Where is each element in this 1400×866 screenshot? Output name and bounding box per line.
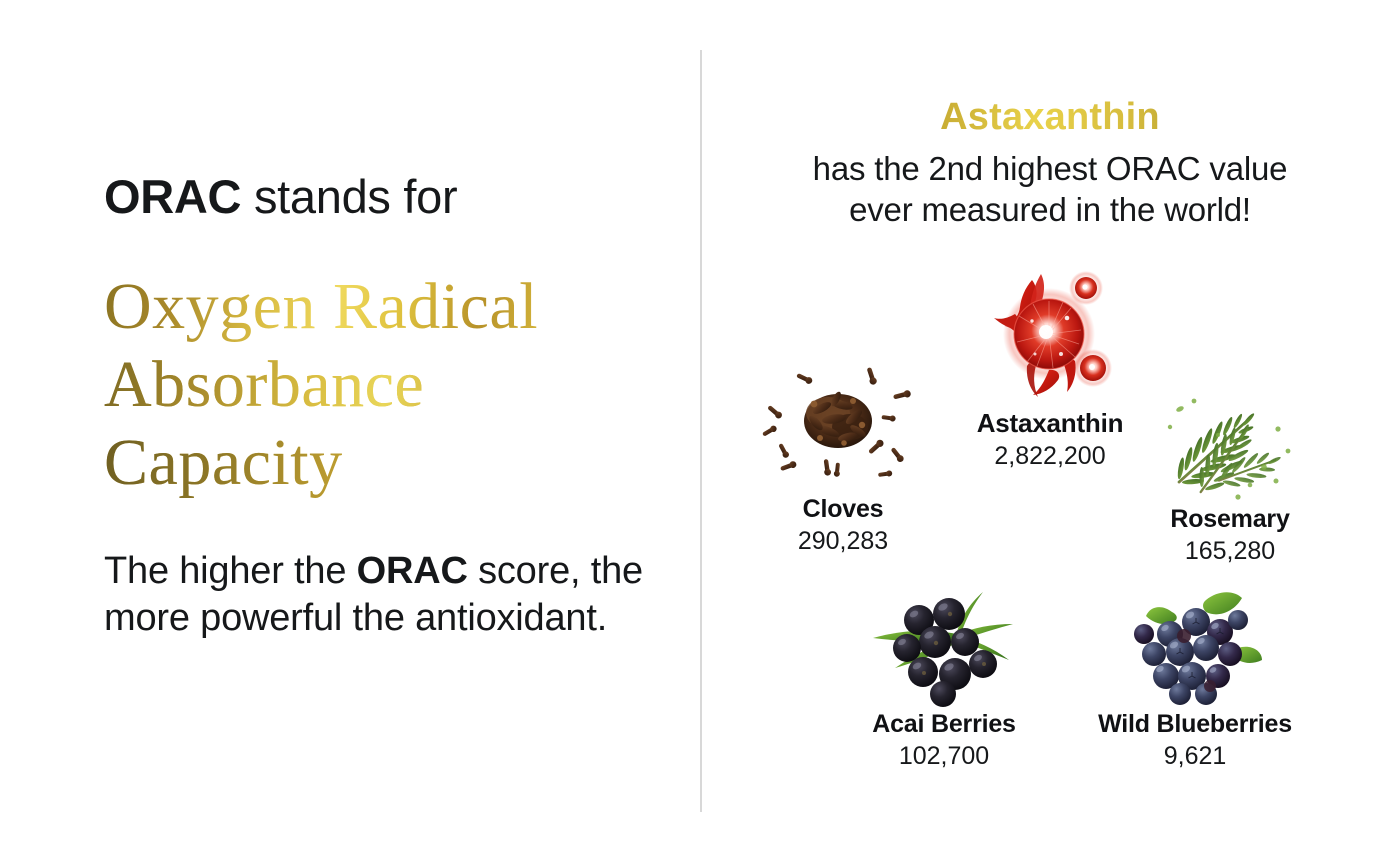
item-astaxanthin-value: 2,822,200 [950,442,1150,471]
orac-stands-for-heading: ORAC stands for [104,172,457,221]
item-acai-berries-value: 102,700 [830,742,1058,771]
orac-explanation-paragraph: The higher the ORAC score, the more powe… [104,548,679,642]
acai-berries-icon [857,590,1032,710]
item-wild-blueberries: Wild Blueberries 9,621 [1060,590,1330,771]
item-cloves-label: Cloves [743,495,943,524]
acronym-line-1: Oxygen Radical [104,268,644,346]
left-panel: ORAC stands for Oxygen Radical Absorbanc… [0,0,700,866]
orac-acronym-bold: ORAC [104,170,241,223]
rosemary-sprig-icon [1160,385,1300,505]
astaxanthin-title: Astaxanthin [700,96,1400,139]
wild-blueberries-icon [1110,590,1280,710]
item-wild-blueberries-value: 9,621 [1060,742,1330,771]
acronym-line-2: Absorbance [104,346,644,424]
item-wild-blueberries-label: Wild Blueberries [1060,710,1330,739]
item-cloves-value: 290,283 [743,527,943,556]
item-cloves: Cloves 290,283 [743,355,943,556]
acronym-line-3: Capacity [104,424,644,502]
right-panel: Astaxanthin has the 2nd highest ORAC val… [700,0,1400,866]
item-astaxanthin: Astaxanthin 2,822,200 [950,258,1150,471]
item-acai-berries-label: Acai Berries [830,710,1058,739]
item-rosemary: Rosemary 165,280 [1130,385,1330,566]
orac-stands-for-rest: stands for [241,170,457,223]
item-rosemary-value: 165,280 [1130,537,1330,566]
subtitle-line-2: ever measured in the world! [849,191,1251,228]
paragraph-pre-text: The higher the [104,550,357,592]
cloves-icon [758,355,928,495]
astaxanthin-algae-cell-icon [975,258,1125,408]
item-acai-berries: Acai Berries 102,700 [830,590,1058,771]
astaxanthin-subtitle: has the 2nd highest ORAC value ever meas… [700,148,1400,230]
item-rosemary-label: Rosemary [1130,505,1330,534]
orac-expansion-gold-text: Oxygen Radical Absorbance Capacity [104,268,644,502]
item-astaxanthin-label: Astaxanthin [950,408,1150,439]
subtitle-line-1: has the 2nd highest ORAC value [813,150,1288,187]
infographic-canvas: ORAC stands for Oxygen Radical Absorbanc… [0,0,1400,866]
paragraph-orac-bold: ORAC [357,550,468,592]
